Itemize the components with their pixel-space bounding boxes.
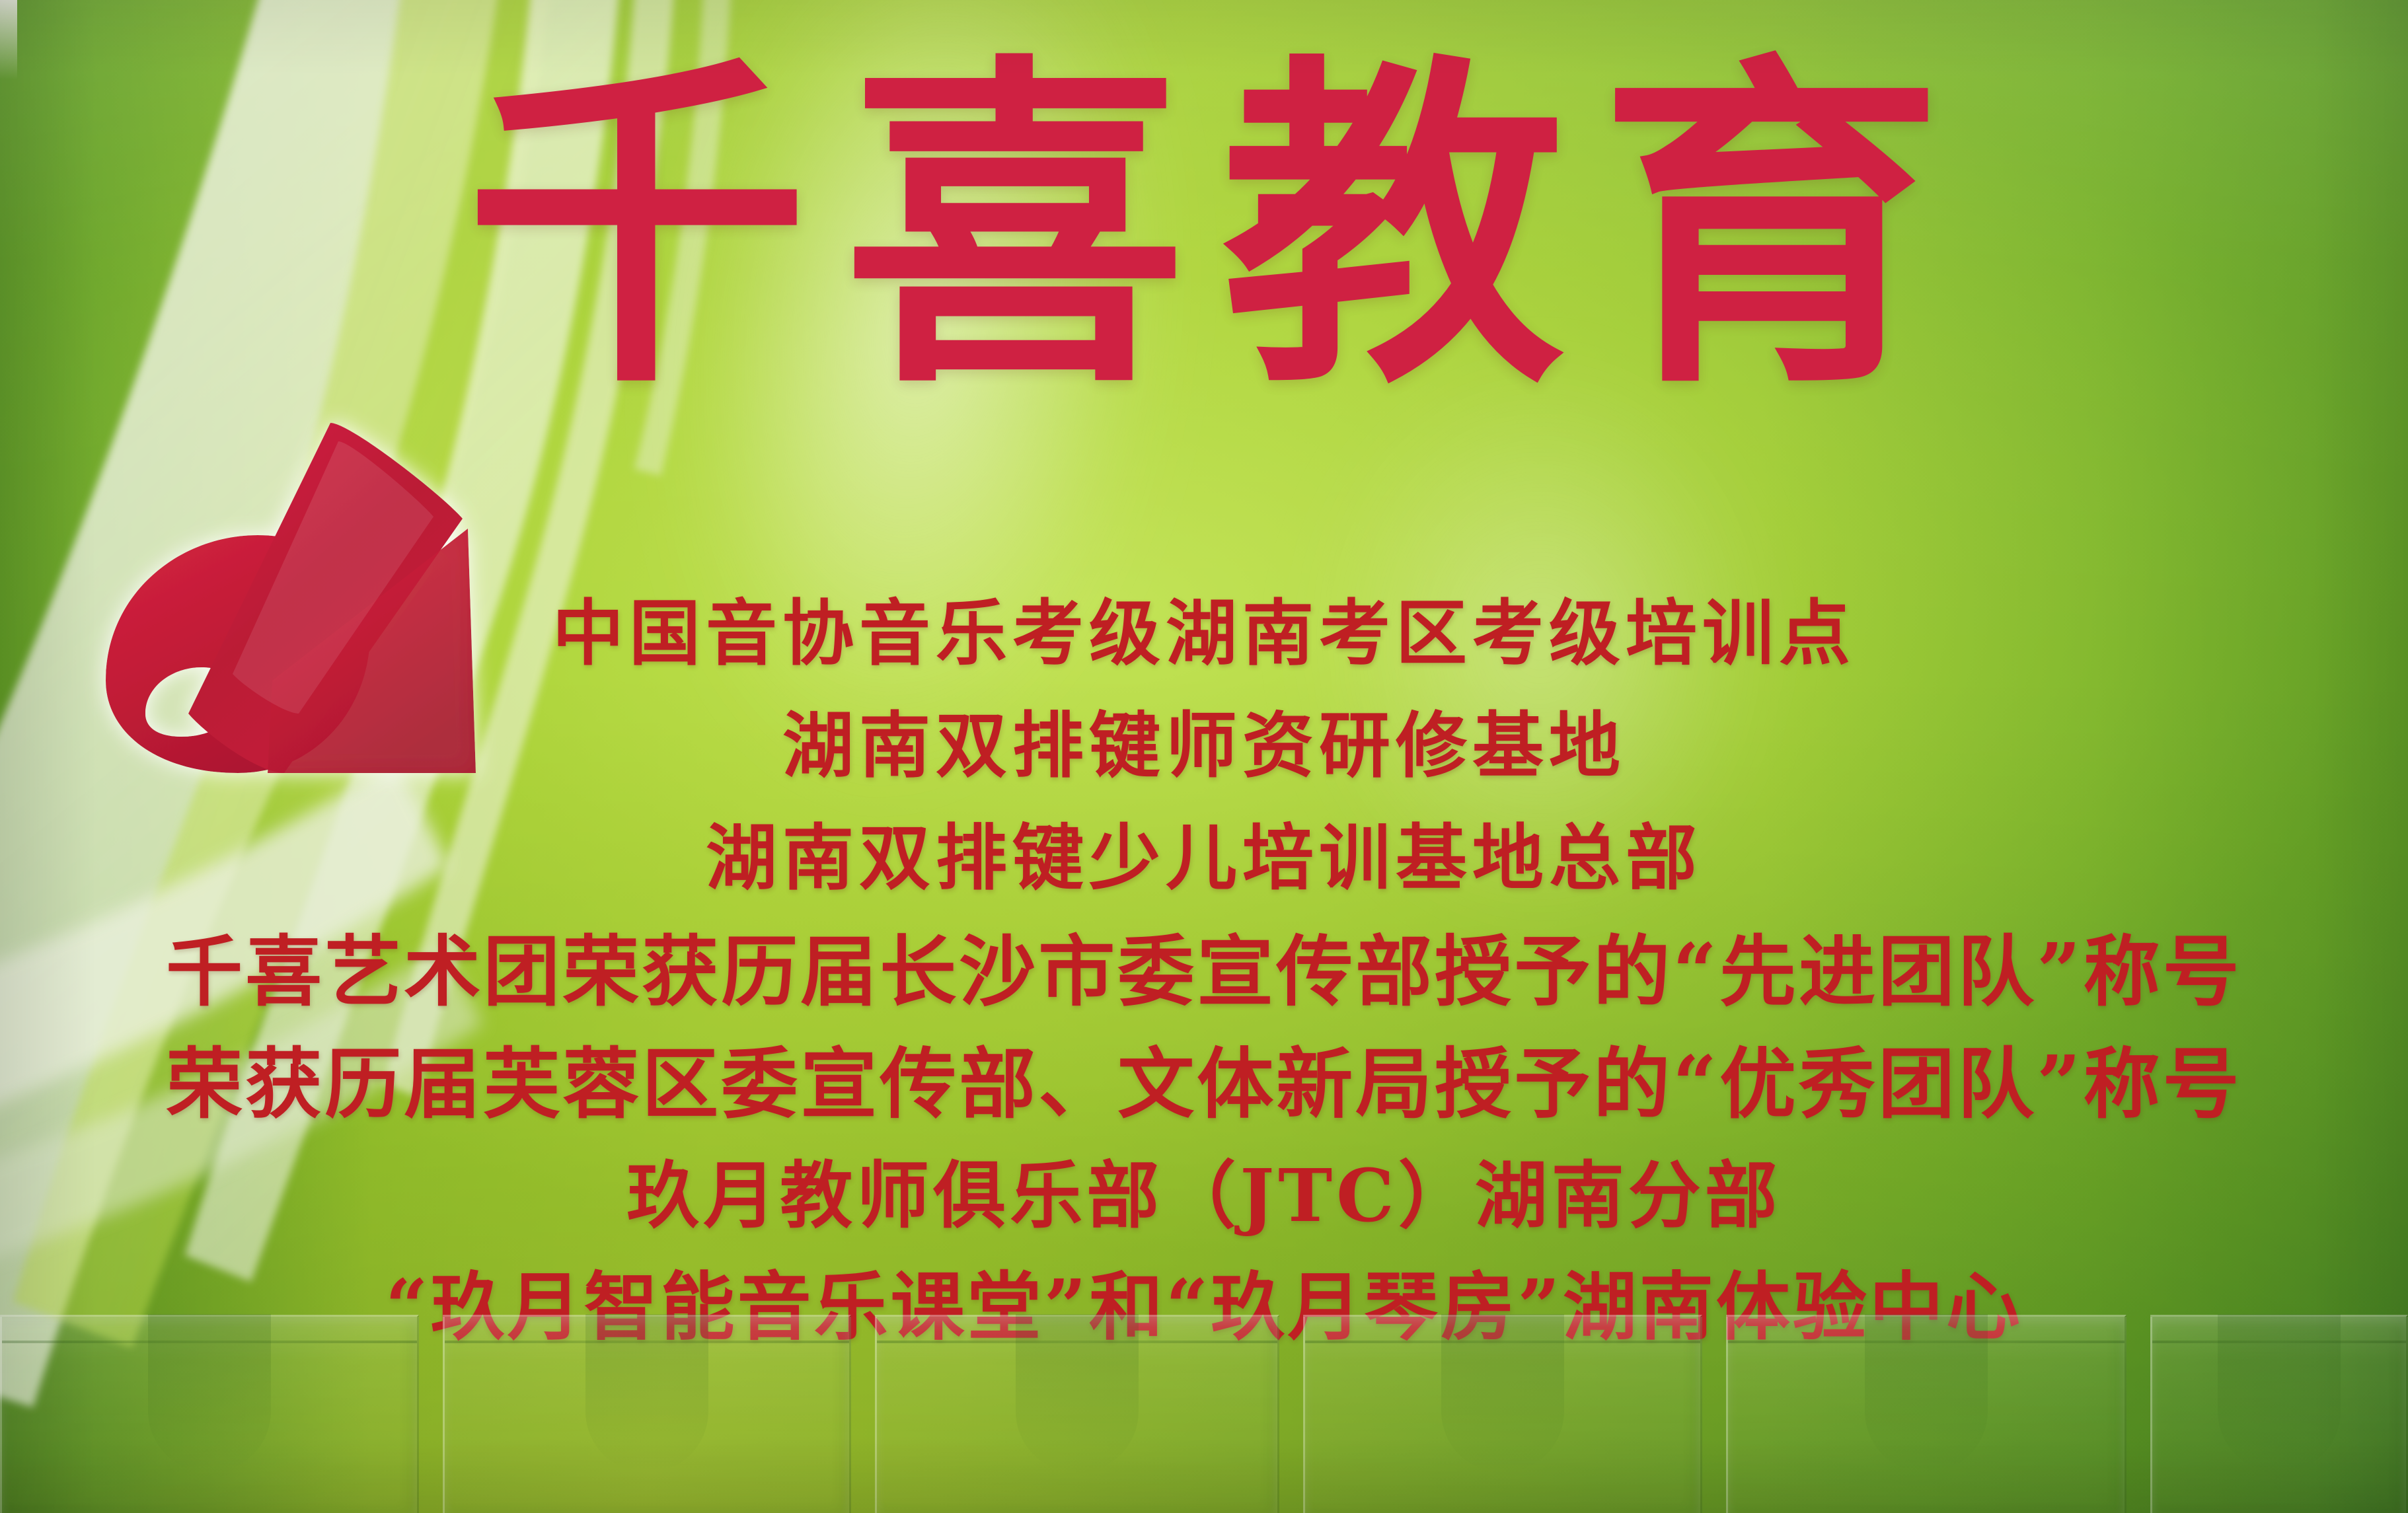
claim-line: 中国音协音乐考级湖南考区考级培训点 [0, 598, 2408, 669]
photo-left-edge-highlight [0, 0, 17, 79]
claim-line: 玖月教师俱乐部（JTC）湖南分部 [0, 1160, 2408, 1232]
sign-headline: 千喜教育 [0, 32, 2408, 424]
claim-line: “玖月智能音乐课堂”和“玖月琴房”湖南体验中心 [0, 1271, 2408, 1345]
claim-line: 千喜艺术团荣获历届长沙市委宣传部授予的“先进团队”称号 [0, 934, 2408, 1010]
signboard-photo: 千喜教育 中国音协音乐考级湖南考区考级培训点 湖南双排键师资研修基地 湖南双排键… [0, 0, 2408, 1513]
claim-line: 湖南双排键少儿培训基地总部 [0, 823, 2408, 894]
claim-line: 荣获历届芙蓉区委宣传部、文体新局授予的“优秀团队”称号 [0, 1046, 2408, 1123]
claims-list: 中国音协音乐考级湖南考区考级培训点 湖南双排键师资研修基地 湖南双排键少儿培训基… [0, 598, 2408, 1345]
claim-line: 湖南双排键师资研修基地 [0, 710, 2408, 782]
